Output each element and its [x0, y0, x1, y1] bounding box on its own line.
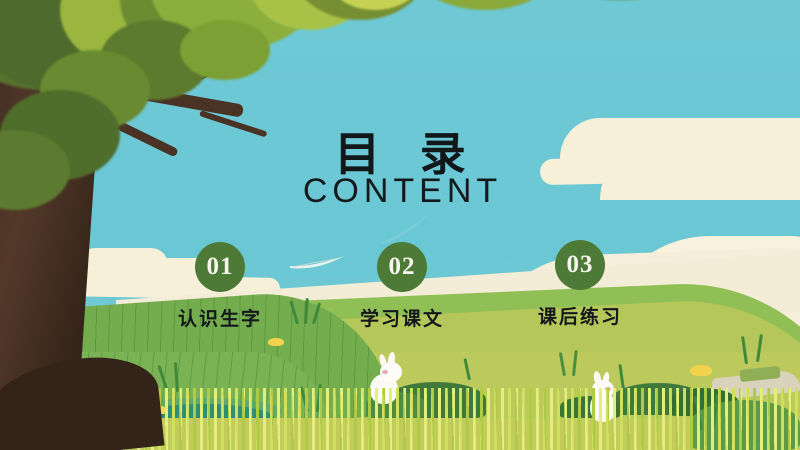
toc-number-1: 01 [195, 242, 245, 292]
toc-item-1[interactable]: 01 认识生字 [140, 242, 300, 331]
presentation-slide: 目 录 CONTENT 01 认识生字 02 学习课文 03 课后练习 [0, 0, 800, 450]
toc-item-3[interactable]: 03 课后练习 [500, 240, 660, 329]
page-title-en: CONTENT [0, 172, 800, 211]
yellow-butterfly [690, 365, 712, 376]
yellow-butterfly-small [268, 338, 284, 346]
foreground-grass [60, 388, 800, 450]
toc-label-3: 课后练习 [500, 302, 660, 329]
toc-number-2: 02 [377, 242, 427, 292]
toc-number-3: 03 [555, 240, 605, 290]
toc-label-2: 学习课文 [322, 304, 482, 331]
tree-canopy [180, 20, 270, 80]
toc-item-2[interactable]: 02 学习课文 [322, 242, 482, 331]
toc-label-1: 认识生字 [140, 304, 300, 331]
